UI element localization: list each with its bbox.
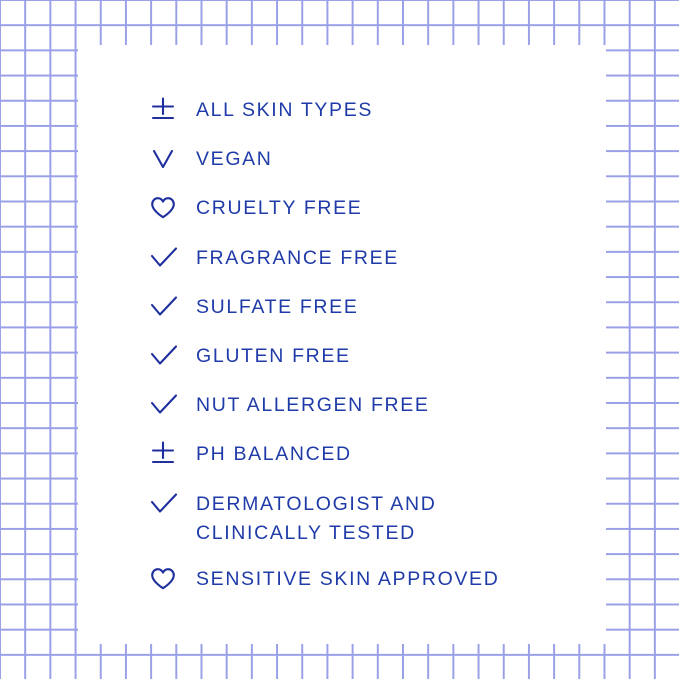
plus-minus-icon (150, 439, 196, 469)
benefit-item: FRAGRANCE FREE (150, 243, 399, 277)
benefit-label: SULFATE FREE (196, 292, 358, 322)
product-claims-graphic: ALL SKIN TYPESVEGANCRUELTY FREEFRAGRANCE… (0, 0, 679, 679)
benefit-item: SULFATE FREE (150, 292, 358, 326)
benefit-item: PH BALANCED (150, 439, 352, 473)
plus-minus-icon (150, 95, 196, 125)
benefit-label: GLUTEN FREE (196, 341, 351, 371)
heart-outline-icon (150, 564, 196, 594)
benefit-item: ALL SKIN TYPES (150, 95, 373, 129)
checkmark-icon (150, 292, 196, 322)
benefit-label: VEGAN (196, 144, 273, 174)
heart-outline-icon (150, 193, 196, 223)
benefit-item: DERMATOLOGIST AND CLINICALLY TESTED (150, 489, 436, 523)
benefit-label: NUT ALLERGEN FREE (196, 390, 430, 420)
benefit-item: GLUTEN FREE (150, 341, 351, 375)
benefit-label: CRUELTY FREE (196, 193, 362, 223)
benefit-label: DERMATOLOGIST AND CLINICALLY TESTED (196, 489, 436, 548)
checkmark-icon (150, 243, 196, 273)
benefit-label: FRAGRANCE FREE (196, 243, 399, 273)
checkmark-icon (150, 390, 196, 420)
benefit-item: NUT ALLERGEN FREE (150, 390, 430, 424)
benefit-item: CRUELTY FREE (150, 193, 362, 227)
benefit-label: SENSITIVE SKIN APPROVED (196, 564, 499, 594)
benefit-label: PH BALANCED (196, 439, 352, 469)
benefit-item: VEGAN (150, 144, 273, 178)
benefit-label: ALL SKIN TYPES (196, 95, 373, 125)
benefit-item: SENSITIVE SKIN APPROVED (150, 564, 499, 598)
checkmark-icon (150, 341, 196, 371)
vegan-v-icon (150, 144, 196, 174)
checkmark-icon (150, 489, 196, 519)
white-card-panel: ALL SKIN TYPESVEGANCRUELTY FREEFRAGRANCE… (78, 45, 606, 644)
